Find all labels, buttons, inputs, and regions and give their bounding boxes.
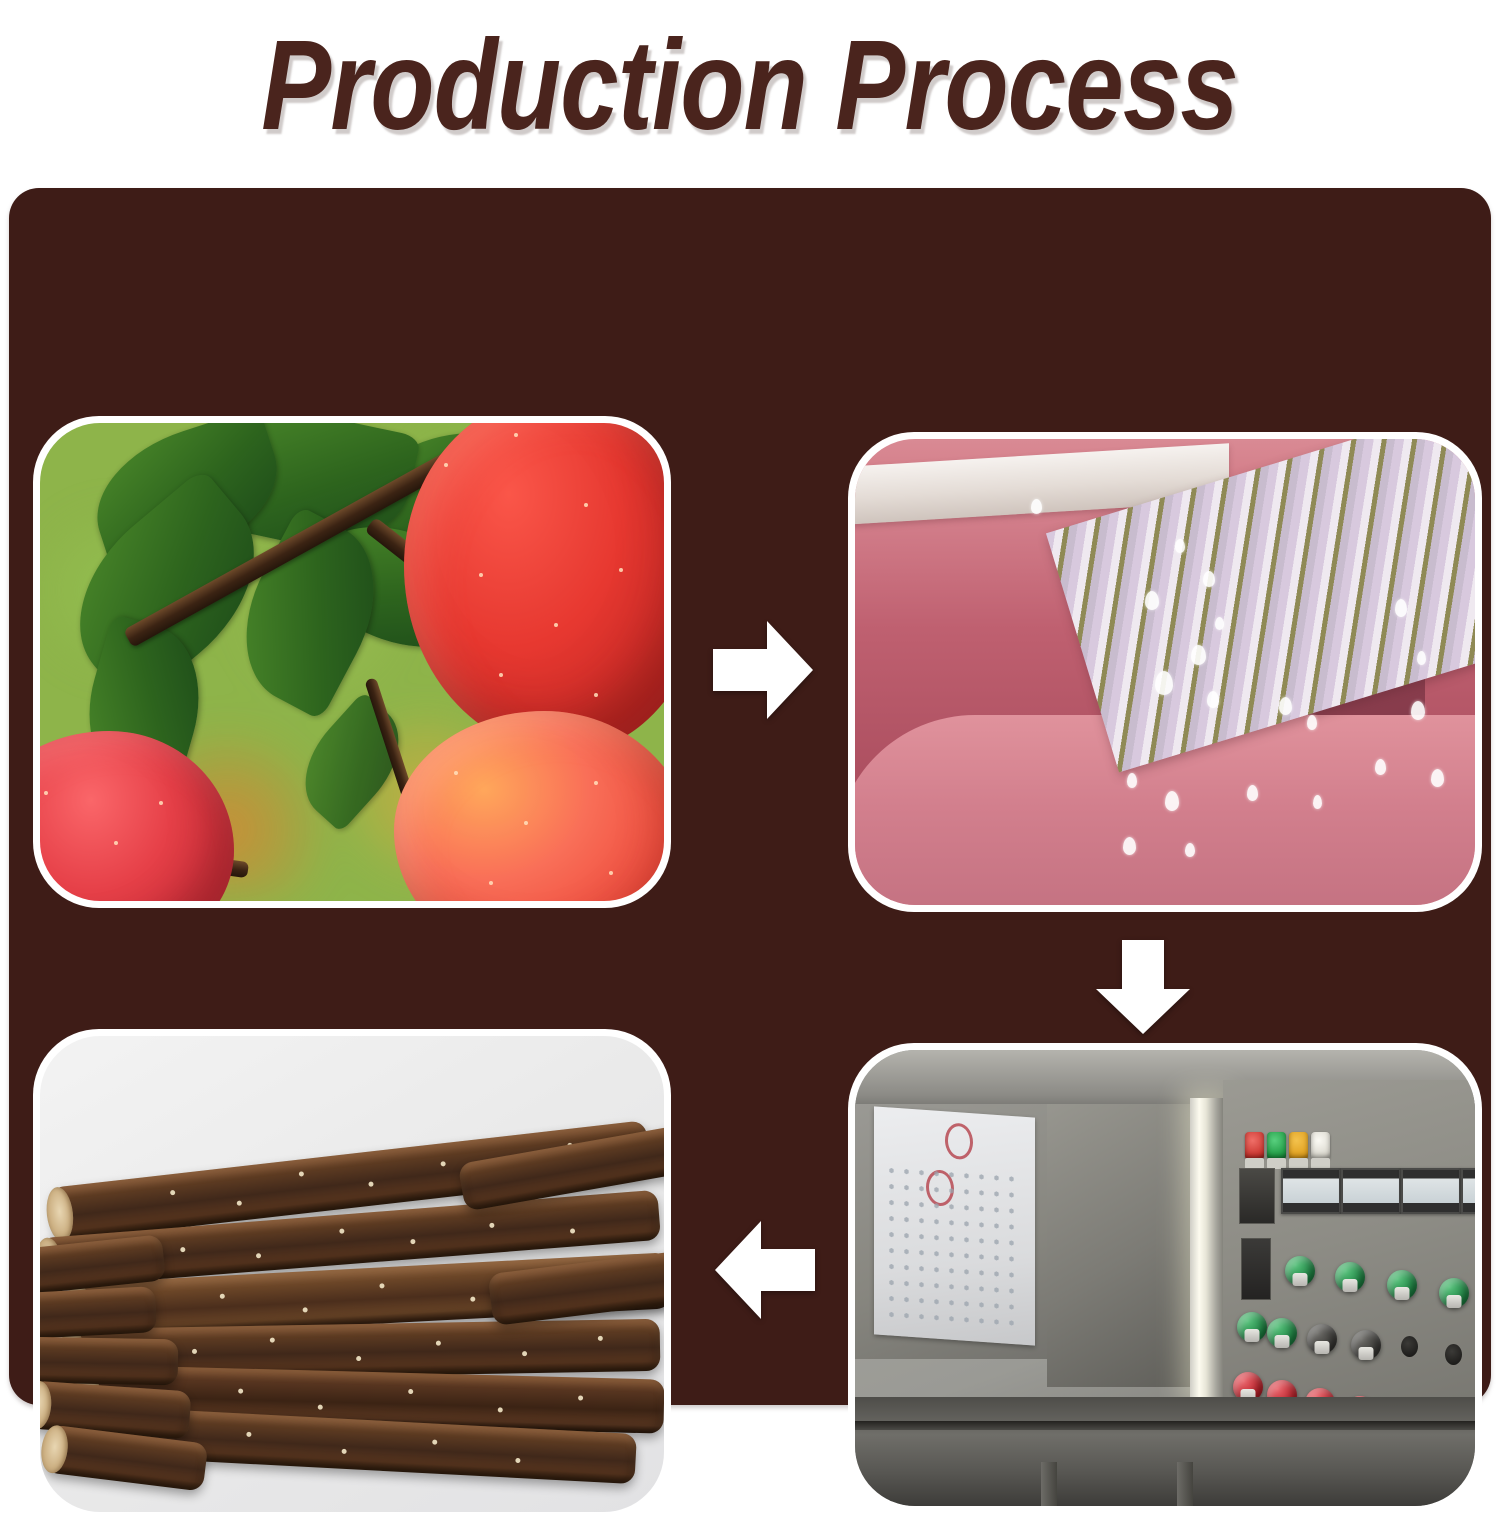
step-card-finished-sticks[interactable] bbox=[33, 1029, 671, 1519]
step-card-drying-machine[interactable] bbox=[848, 1043, 1482, 1513]
production-process-panel bbox=[9, 188, 1491, 1405]
arrow-down-icon bbox=[1092, 937, 1194, 1037]
wood-sticks-icon bbox=[40, 1036, 664, 1512]
header-bar: Production Process bbox=[0, 0, 1500, 188]
step-card-washing[interactable] bbox=[848, 432, 1482, 912]
step-card-harvesting[interactable] bbox=[33, 416, 671, 908]
page-title: Production Process bbox=[262, 22, 1239, 150]
washing-machine-icon bbox=[855, 439, 1475, 905]
arrow-right-icon bbox=[709, 615, 817, 725]
drying-machine-icon bbox=[855, 1050, 1475, 1506]
apple-tree-icon bbox=[40, 423, 664, 901]
arrow-left-icon bbox=[711, 1215, 819, 1325]
